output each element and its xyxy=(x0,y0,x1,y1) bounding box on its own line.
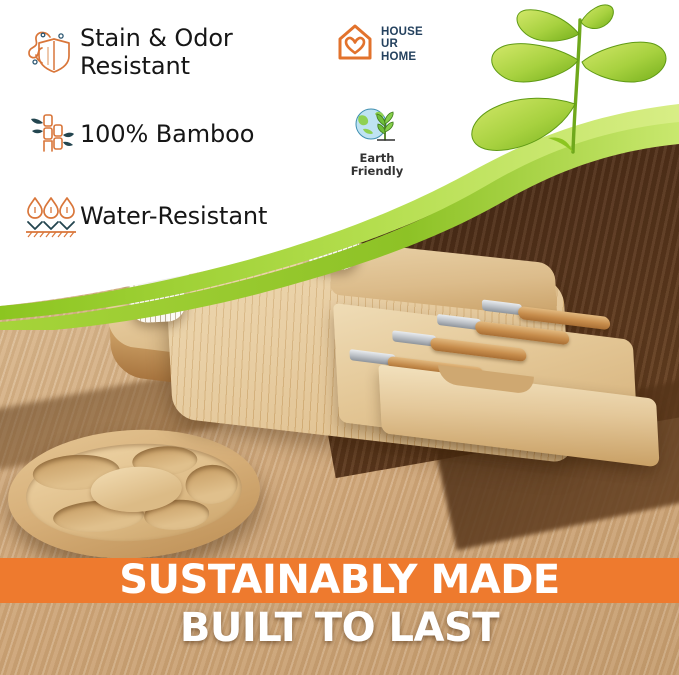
feature-item-bamboo: 100% Bamboo xyxy=(22,104,332,164)
feature-label: Stain & OdorResistant xyxy=(80,24,233,81)
brand-line-3: HOME xyxy=(381,51,423,63)
feature-item-water-resistant: Water-Resistant xyxy=(22,186,332,246)
shield-stain-icon xyxy=(22,22,80,82)
banner-headline-secondary: BUILT TO LAST xyxy=(0,604,679,652)
brand-name: HOUSE UR HOME xyxy=(381,26,423,63)
feature-item-stain-odor: Stain & OdorResistant xyxy=(22,22,332,82)
feature-label: Water-Resistant xyxy=(80,202,267,230)
plate-well xyxy=(185,464,239,506)
globe-plant-icon xyxy=(344,104,410,151)
brand-logo: HOUSE UR HOME xyxy=(336,22,423,67)
feature-label: 100% Bamboo xyxy=(80,120,254,148)
brand-line-2: UR xyxy=(381,38,423,50)
house-heart-logo-icon xyxy=(336,22,374,67)
brand-line-1: HOUSE xyxy=(381,26,423,38)
ceramic-ramekin xyxy=(128,273,186,324)
earth-friendly-text: Earth Friendly xyxy=(344,152,410,178)
knife-handle xyxy=(430,337,527,362)
bamboo-stalk-icon xyxy=(22,104,80,164)
banner-headline-primary: SUSTAINABLY MADE xyxy=(0,556,679,604)
water-droplet-repel-icon xyxy=(22,186,80,246)
feature-list: Stain & OdorResistant xyxy=(22,22,332,268)
eco-line-1: Earth xyxy=(344,152,410,165)
eco-line-2: Friendly xyxy=(344,165,410,178)
plate-rim xyxy=(23,438,245,546)
earth-friendly-badge: Earth Friendly xyxy=(344,104,410,178)
product-marketing-image: Stain & OdorResistant xyxy=(0,0,679,675)
